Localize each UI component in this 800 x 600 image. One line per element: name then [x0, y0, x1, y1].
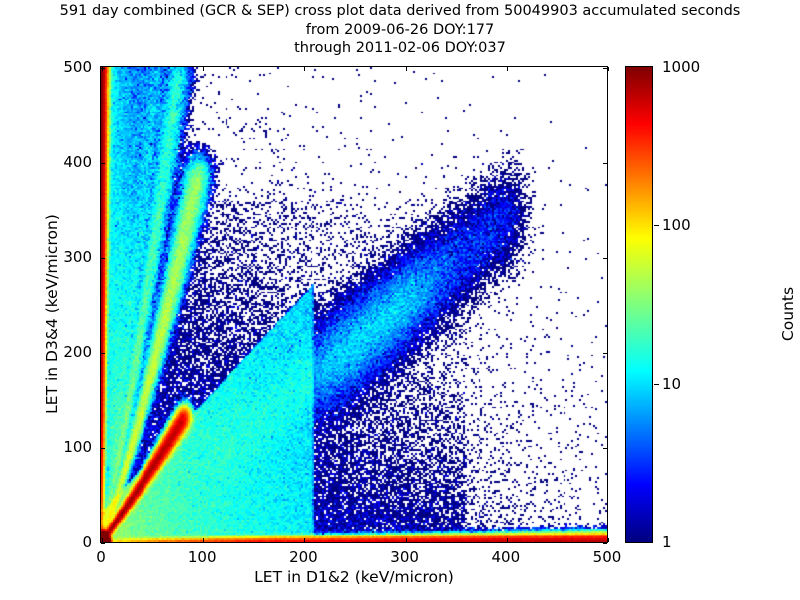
x-tick-mark: [507, 538, 508, 542]
x-tick-mark: [304, 538, 305, 542]
y-tick-mark: [603, 353, 607, 354]
y-tick-label: 100: [92, 438, 121, 456]
y-tick-mark: [101, 543, 105, 544]
x-tick-mark: [608, 538, 609, 542]
x-tick-mark: [406, 67, 407, 71]
x-tick-label: 300: [390, 548, 419, 566]
y-tick-mark: [603, 258, 607, 259]
title-line-1: 591 day combined (GCR & SEP) cross plot …: [0, 2, 800, 21]
title-line-2: from 2009-06-26 DOY:177: [0, 21, 800, 40]
x-tick-mark: [406, 538, 407, 542]
y-tick-label: 500: [92, 58, 121, 76]
y-tick-label: 200: [92, 343, 121, 361]
y-tick-mark: [603, 543, 607, 544]
y-tick-label: 0: [92, 533, 102, 551]
colorbar-tick-mark: [654, 225, 659, 226]
title-line-3: through 2011-02-06 DOY:037: [0, 39, 800, 58]
colorbar-gradient: [626, 67, 652, 542]
y-tick-mark: [603, 163, 607, 164]
colorbar-tick-label: 10: [662, 375, 681, 393]
y-tick-label: 300: [92, 248, 121, 266]
colorbar: [625, 66, 653, 543]
x-axis-label: LET in D1&2 (keV/micron): [100, 568, 608, 586]
y-tick-mark: [603, 68, 607, 69]
plot-axes: [100, 66, 608, 543]
x-tick-label: 400: [491, 548, 520, 566]
figure-canvas: 591 day combined (GCR & SEP) cross plot …: [0, 0, 800, 600]
x-tick-mark: [203, 538, 204, 542]
colorbar-tick-label: 1: [662, 533, 672, 551]
colorbar-tick-mark: [654, 384, 659, 385]
x-tick-mark: [608, 67, 609, 71]
x-tick-label: 500: [593, 548, 622, 566]
x-tick-label: 200: [289, 548, 318, 566]
density-heatmap: [101, 67, 607, 542]
colorbar-tick-label: 100: [662, 216, 691, 234]
y-tick-mark: [603, 448, 607, 449]
colorbar-tick-label: 1000: [662, 58, 700, 76]
colorbar-label: Counts: [779, 194, 797, 434]
x-tick-mark: [507, 67, 508, 71]
plot-title: 591 day combined (GCR & SEP) cross plot …: [0, 2, 800, 58]
x-tick-mark: [203, 67, 204, 71]
x-tick-label: 100: [188, 548, 217, 566]
y-tick-label: 400: [92, 153, 121, 171]
x-tick-mark: [304, 67, 305, 71]
y-axis-label: LET in D3&4 (keV/micron): [43, 104, 61, 524]
x-tick-mark: [102, 538, 103, 542]
